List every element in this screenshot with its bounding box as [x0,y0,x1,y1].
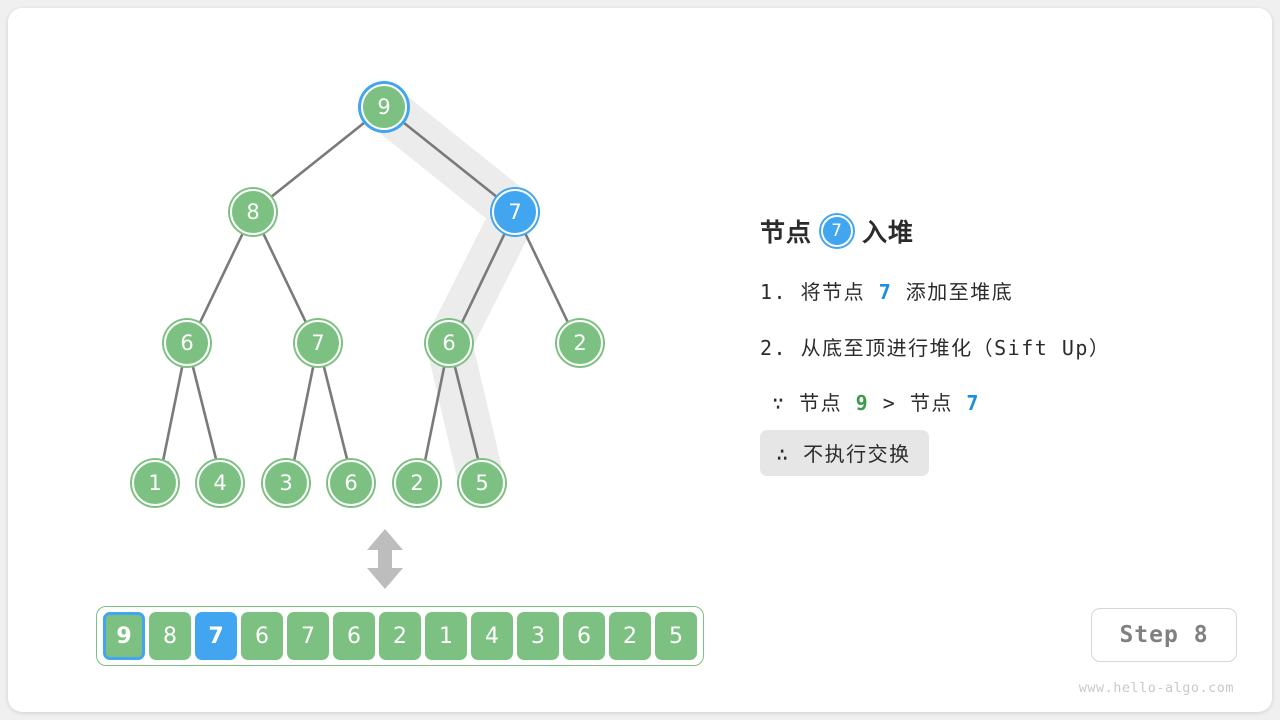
step-1-line: 1. 将节点 7 添加至堆底 [760,276,1230,305]
watermark: www.hello-algo.com [1079,680,1234,696]
binary-tree-diagram: 9 8 7 6 7 6 2 1 4 3 6 2 5 [8,8,748,608]
tree-node-7-inserted[interactable]: 7 [492,189,538,235]
tree-node-6-a[interactable]: 6 [164,320,210,366]
cell-value: 5 [669,624,683,649]
cell-value: 4 [485,624,499,649]
cell-value: 8 [163,624,177,649]
node-value: 9 [377,95,390,119]
node-value: 8 [246,200,259,224]
node-value: 2 [573,331,586,355]
node-value: 6 [442,331,455,355]
therefore-symbol: ∴ [776,442,790,466]
step-1-value: 7 [879,280,893,304]
cell-value: 2 [393,624,407,649]
conclusion-box: ∴ 不执行交换 [760,430,929,476]
node-value: 2 [410,471,423,495]
array-cell-9[interactable]: 3 [517,612,559,660]
tree-array-sync-arrow-icon [366,528,404,590]
node-value: 1 [148,471,161,495]
reason-line: ∵ 节点 9 > 节点 7 [760,387,1230,416]
step-1-index: 1. [760,280,787,304]
tree-node-1[interactable]: 1 [132,460,178,506]
cell-value: 9 [116,624,131,649]
panel-title-suffix: 入堆 [862,213,914,249]
heap-array: 9 8 7 6 7 6 2 1 4 3 6 2 5 [96,606,704,666]
content-card: 9 8 7 6 7 6 2 1 4 3 6 2 5 9 8 7 6 7 6 2 … [8,8,1272,712]
array-cell-5[interactable]: 6 [333,612,375,660]
step-1-before: 将节点 [801,280,866,304]
node-value: 5 [475,471,488,495]
array-cell-8[interactable]: 4 [471,612,513,660]
array-cell-1[interactable]: 8 [149,612,191,660]
cell-value: 2 [623,624,637,649]
step-2-line: 2. 从底至顶进行堆化（Sift Up） [760,332,1230,361]
panel-title: 节点 7 入堆 [760,213,1230,249]
cell-value: 3 [531,624,545,649]
cell-value: 1 [439,624,453,649]
cell-value: 6 [577,624,591,649]
cell-value: 6 [255,624,269,649]
array-cell-7[interactable]: 1 [425,612,467,660]
step-2-index: 2. [760,336,787,360]
tree-node-6-b[interactable]: 6 [426,320,472,366]
tree-node-4[interactable]: 4 [197,460,243,506]
because-symbol: ∵ [772,391,786,415]
step-badge: Step 8 [1091,608,1237,662]
tree-node-7-b[interactable]: 7 [295,320,341,366]
tree-edges [161,107,573,471]
explanation-panel: 节点 7 入堆 1. 将节点 7 添加至堆底 2. 从底至顶进行堆化（Sift … [760,213,1230,476]
array-cell-2[interactable]: 7 [195,612,237,660]
cell-value: 6 [347,624,361,649]
step-1-after: 添加至堆底 [906,280,1014,304]
tree-node-3[interactable]: 3 [263,460,309,506]
tree-node-9-root[interactable]: 9 [361,84,407,130]
node-value: 7 [508,200,521,224]
step-2-text: 从底至顶进行堆化（Sift Up） [801,336,1111,360]
node-value: 6 [344,471,357,495]
node-value: 3 [279,471,292,495]
page-root: 9 8 7 6 7 6 2 1 4 3 6 2 5 9 8 7 6 7 6 2 … [0,0,1280,720]
array-cell-3[interactable]: 6 [241,612,283,660]
reason-value-b: 7 [966,391,980,415]
conclusion-text: 不执行交换 [803,442,911,466]
tree-node-8[interactable]: 8 [230,189,276,235]
reason-value-a: 9 [856,391,870,415]
watermark-text: www.hello-algo.com [1079,680,1234,696]
reason-word-a: 节点 [799,391,842,415]
panel-title-prefix: 节点 [760,213,812,249]
cell-value: 7 [301,624,315,649]
node-value: 4 [213,471,226,495]
reason-word-b: 节点 [910,391,953,415]
tree-node-6-c[interactable]: 6 [328,460,374,506]
cell-value: 7 [208,624,223,649]
badge-value: 7 [831,221,843,241]
sift-up-path-highlight [384,107,515,483]
array-cell-12[interactable]: 5 [655,612,697,660]
array-cell-10[interactable]: 6 [563,612,605,660]
tree-node-2-a[interactable]: 2 [557,320,603,366]
array-cell-0[interactable]: 9 [103,612,145,660]
reason-operator: > [883,391,897,415]
array-cell-6[interactable]: 2 [379,612,421,660]
tree-node-2-b[interactable]: 2 [394,460,440,506]
node-value: 7 [311,331,324,355]
step-badge-label: Step 8 [1119,622,1208,648]
array-cell-4[interactable]: 7 [287,612,329,660]
panel-title-node-badge: 7 [821,215,853,247]
array-cell-11[interactable]: 2 [609,612,651,660]
node-value: 6 [180,331,193,355]
tree-node-5[interactable]: 5 [459,460,505,506]
